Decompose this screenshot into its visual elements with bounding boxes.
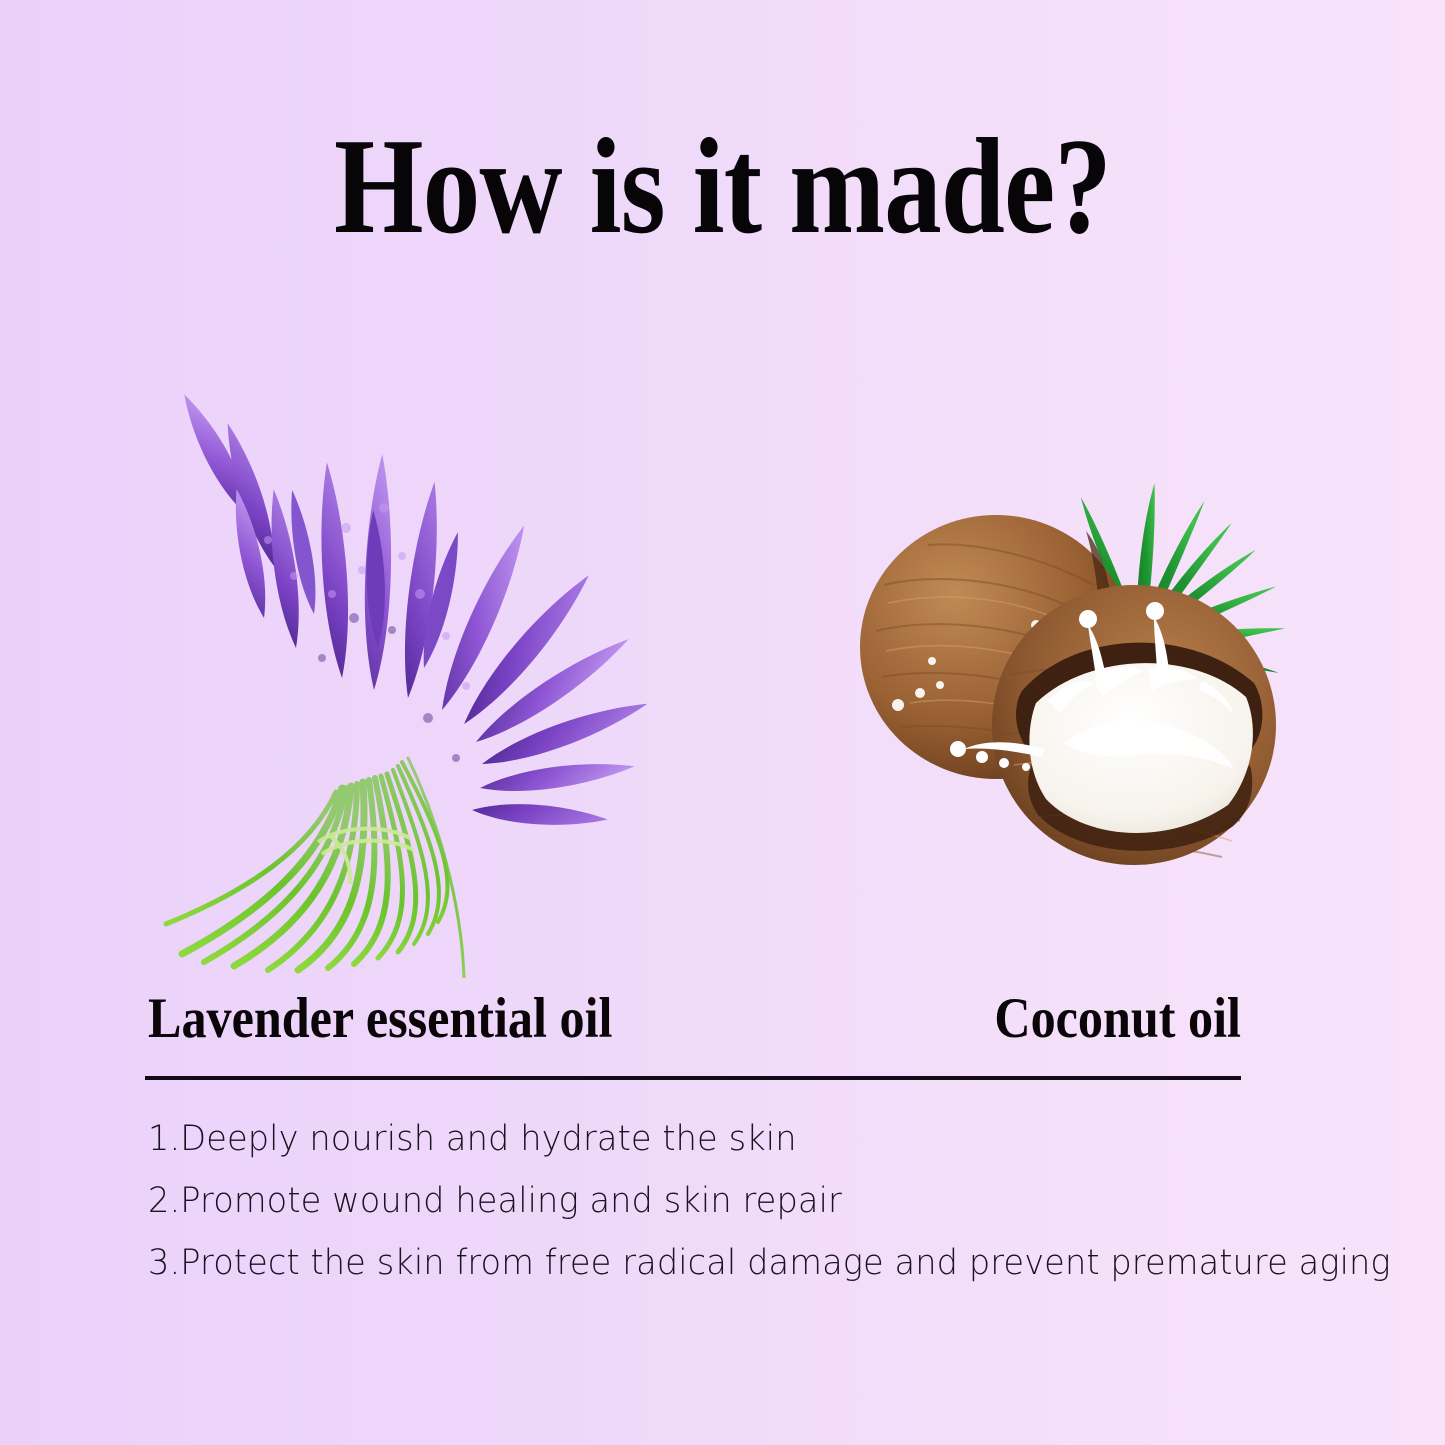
benefits-list: 1.Deeply nourish and hydrate the skin 2.… [148,1108,1308,1294]
product-infographic: How is it made? [0,0,1445,1445]
benefit-item-1: 1.Deeply nourish and hydrate the skin [148,1108,1262,1170]
ingredient-label-lavender: Lavender essential oil [148,990,612,1047]
coconut-halves-photo [836,435,1336,905]
lavender-stems [166,758,464,978]
benefit-item-3: 3.Protect the skin from free radical dam… [148,1232,1262,1294]
section-divider [145,1076,1241,1080]
lavender-bouquet-photo [146,318,666,978]
page-title: How is it made? [116,118,1330,255]
lavender-flowers [174,389,651,829]
ingredient-label-coconut: Coconut oil [994,990,1241,1047]
benefit-item-2: 2.Promote wound healing and skin repair [148,1170,1262,1232]
